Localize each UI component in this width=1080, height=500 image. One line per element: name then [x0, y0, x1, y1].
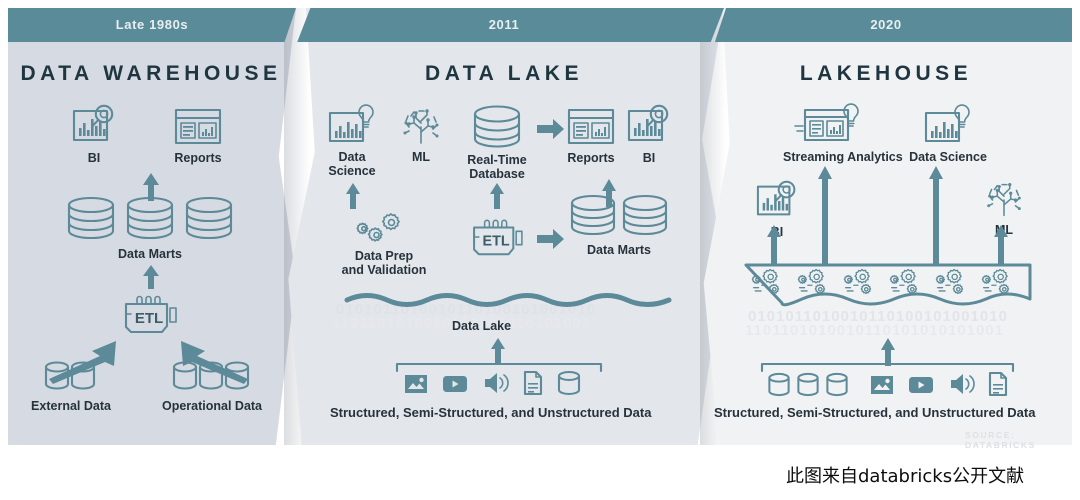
- panel-title-data-warehouse: DATA WAREHOUSE: [8, 62, 294, 86]
- bar-chart-bulb-icon: [907, 105, 989, 147]
- etl-engine-icon: ETL: [461, 216, 535, 260]
- two-cylinders-icon: [16, 360, 126, 396]
- source-icon-database-2-lakehouse: [795, 372, 821, 398]
- node-real-time-database: Real-Time Database: [460, 104, 534, 181]
- arrow-engine-to-bi: [763, 224, 785, 266]
- three-cylinders-icon: [50, 196, 250, 244]
- node-reports-warehouse: Reports: [164, 107, 232, 165]
- source-icon-database-3-lakehouse: [824, 372, 850, 398]
- bar-chart-magnifier-icon: [62, 104, 126, 148]
- node-etl-warehouse: ETL: [113, 292, 189, 338]
- circuit-brain-icon: [393, 107, 449, 147]
- source-icon-database-1-lakehouse: [766, 372, 792, 398]
- document-icon: [986, 371, 1010, 398]
- arrow-etl-to-marts: [138, 264, 164, 290]
- two-cylinders-icon: [560, 194, 678, 240]
- node-bi-lake: BI: [620, 104, 678, 165]
- arrow-engine-to-ml: [990, 224, 1012, 266]
- infographic-root: Late 1980s 2011 2020 DATA WAREHOUSE DATA…: [0, 0, 1080, 500]
- sources-caption-lakehouse: Structured, Semi-Structured, and Unstruc…: [714, 405, 1035, 420]
- node-data-science-lake: Data Science: [318, 105, 386, 178]
- node-streaming-analytics: Streaming Analytics: [783, 105, 875, 164]
- source-icon-image-lake: [403, 372, 429, 396]
- arrow-prep-to-science: [342, 182, 364, 210]
- source-icon-database-lake: [556, 370, 582, 397]
- video-icon: [441, 373, 469, 395]
- bar-chart-magnifier-icon: [748, 180, 806, 222]
- cylinder-icon: [460, 104, 534, 150]
- source-icon-audio-lakehouse: [948, 371, 978, 397]
- image-icon: [869, 373, 895, 397]
- report-window-icon: [557, 107, 625, 148]
- node-data-prep: Data Prep and Validation: [333, 212, 435, 277]
- source-icon-image-lakehouse: [869, 373, 895, 397]
- era-label-data-lake: 2011: [284, 8, 724, 42]
- audio-icon: [948, 371, 978, 397]
- report-window-icon: [164, 107, 232, 148]
- svg-text:ETL: ETL: [483, 234, 510, 250]
- node-etl-lake: ETL: [461, 216, 535, 260]
- circuit-brain-icon: [975, 180, 1033, 220]
- node-label: BI: [62, 151, 126, 165]
- panel-title-data-lake: DATA LAKE: [286, 62, 722, 86]
- video-icon: [907, 374, 935, 396]
- database-icon: [556, 370, 582, 397]
- source-icon-document-lake: [521, 370, 545, 397]
- node-label: Streaming Analytics: [783, 150, 875, 164]
- svg-text:ETL: ETL: [135, 310, 163, 327]
- node-external-data: External Data: [16, 360, 126, 413]
- arrow-sources-to-lake: [487, 337, 509, 365]
- node-label: Reports: [164, 151, 232, 165]
- document-icon: [521, 370, 545, 397]
- gear-box-wave-icon: [744, 263, 1032, 313]
- figure-caption: 此图来自databricks公开文献: [786, 462, 1024, 488]
- node-label: Operational Data: [152, 399, 272, 413]
- image-icon: [403, 372, 429, 396]
- node-label-line2: Science: [318, 164, 386, 178]
- node-label: ML: [393, 150, 449, 164]
- bar-chart-bulb-icon: [318, 105, 386, 147]
- source-icon-audio-lake: [482, 370, 512, 396]
- database-icon: [795, 372, 821, 398]
- node-label-line1: Data Prep: [333, 249, 435, 263]
- bar-chart-magnifier-icon: [620, 104, 678, 148]
- report-window-bulb-icon: [783, 105, 875, 147]
- node-label-line2: and Validation: [333, 263, 435, 277]
- three-cylinders-small-icon: [152, 360, 272, 396]
- arrow-etl-to-db: [486, 182, 508, 210]
- node-label-line1: Real-Time: [460, 153, 534, 167]
- node-bi-warehouse: BI: [62, 104, 126, 165]
- node-label: BI: [620, 151, 678, 165]
- node-label: Reports: [557, 151, 625, 165]
- node-label: External Data: [16, 399, 126, 413]
- source-icon-video-lakehouse: [907, 374, 935, 396]
- node-operational-data: Operational Data: [152, 360, 272, 413]
- node-label: Data Science: [907, 150, 989, 164]
- database-icon: [766, 372, 792, 398]
- source-icon-document-lakehouse: [986, 371, 1010, 398]
- node-label: Data Marts: [50, 247, 250, 261]
- wave-icon-lake: [345, 289, 677, 311]
- etl-engine-icon: ETL: [113, 292, 189, 338]
- node-data-marts-warehouse: Data Marts: [50, 196, 250, 261]
- gears-icon: [333, 212, 435, 246]
- era-label-lakehouse: 2020: [700, 8, 1072, 42]
- source-note: SOURCE: DATABRICKS: [965, 430, 1080, 450]
- source-icon-video-lake: [441, 373, 469, 395]
- panel-title-lakehouse: LAKEHOUSE: [702, 62, 1070, 86]
- node-reports-lake: Reports: [557, 107, 625, 165]
- audio-icon: [482, 370, 512, 396]
- node-label: Data Marts: [560, 243, 678, 257]
- node-data-marts-lake: Data Marts: [560, 194, 678, 257]
- node-label-line1: Data: [318, 150, 386, 164]
- era-label-data-warehouse: Late 1980s: [8, 8, 296, 42]
- arrow-engine-to-streaming: [814, 165, 836, 266]
- arrow-engine-to-data-science: [925, 165, 947, 266]
- lake-label-data-lake: Data Lake: [452, 319, 511, 333]
- node-label-line2: Database: [460, 167, 534, 181]
- sources-caption-lake: Structured, Semi-Structured, and Unstruc…: [330, 405, 651, 420]
- node-ml-lake: ML: [393, 107, 449, 164]
- node-data-science-lakehouse: Data Science: [907, 105, 989, 164]
- database-icon: [824, 372, 850, 398]
